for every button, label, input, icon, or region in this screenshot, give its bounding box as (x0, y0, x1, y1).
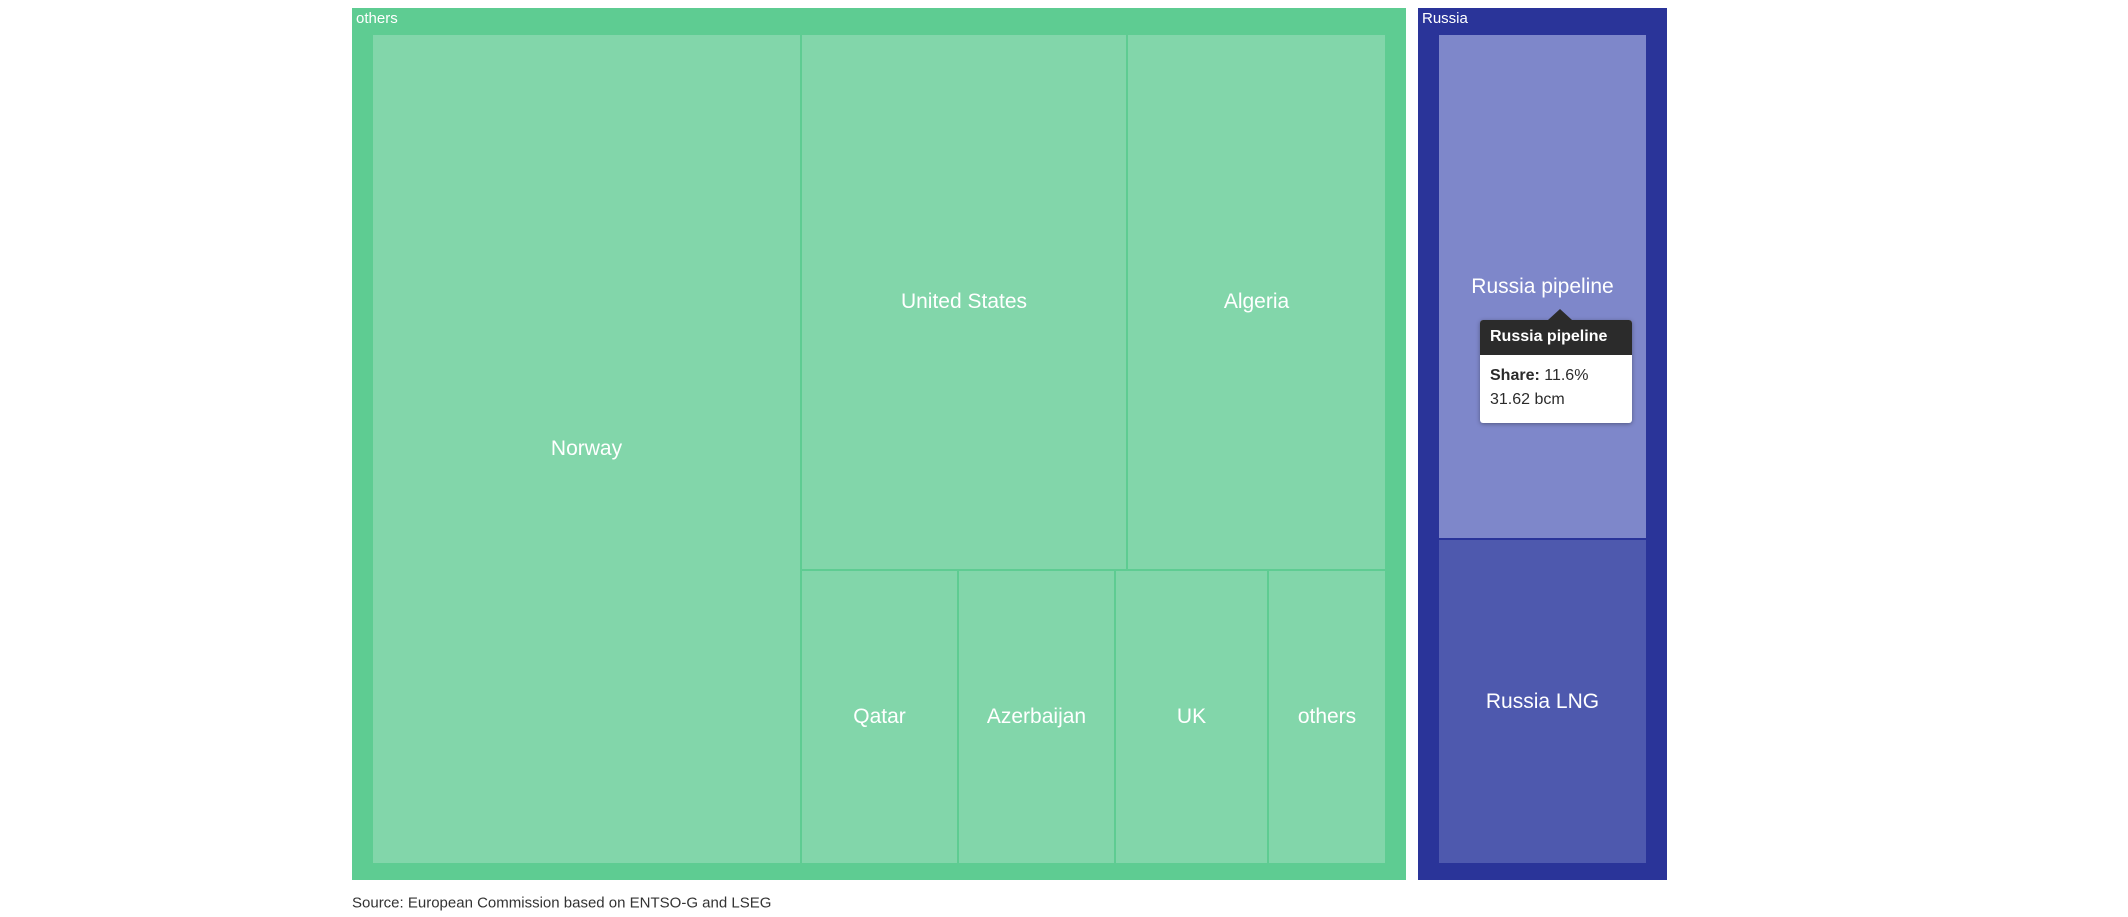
source-note: Source: European Commission based on ENT… (352, 895, 771, 912)
treemap-cell-united-states[interactable]: United States (802, 35, 1126, 569)
treemap-cell-azerbaijan-label: Azerbaijan (959, 704, 1114, 730)
treemap-cell-russia-lng[interactable]: Russia LNG (1439, 540, 1646, 863)
treemap-chart: others Norway United States Algeria Qata… (352, 8, 1682, 880)
treemap-cell-norway[interactable]: Norway (373, 35, 800, 863)
treemap-cell-uk-label: UK (1116, 704, 1267, 730)
treemap-page: others Norway United States Algeria Qata… (0, 0, 2128, 917)
treemap-cell-norway-label: Norway (373, 436, 800, 462)
group-header-russia: Russia (1418, 8, 1468, 29)
tooltip-arrow-icon (1548, 309, 1572, 320)
treemap-cell-uk[interactable]: UK (1116, 571, 1267, 863)
group-header-others: others (352, 8, 398, 29)
treemap-cell-others-label: others (1269, 704, 1385, 730)
tooltip-share-row: Share: 11.6% (1490, 364, 1622, 388)
tooltip-title: Russia pipeline (1480, 320, 1632, 355)
tooltip: Russia pipeline Share: 11.6% 31.62 bcm (1480, 320, 1632, 423)
treemap-cell-qatar-label: Qatar (802, 704, 957, 730)
treemap-cell-algeria-label: Algeria (1128, 289, 1385, 315)
treemap-cell-others[interactable]: others (1269, 571, 1385, 863)
treemap-cell-united-states-label: United States (802, 289, 1126, 315)
tooltip-volume-value: 31.62 bcm (1490, 388, 1622, 412)
treemap-group-russia[interactable]: Russia Russia pipeline Russia LNG (1418, 8, 1667, 880)
treemap-cell-russia-lng-label: Russia LNG (1439, 689, 1646, 715)
treemap-cell-russia-pipeline-label: Russia pipeline (1439, 274, 1646, 300)
treemap-cell-qatar[interactable]: Qatar (802, 571, 957, 863)
tooltip-body: Share: 11.6% 31.62 bcm (1480, 355, 1632, 423)
tooltip-share-label: Share: (1490, 367, 1540, 384)
tooltip-share-value: 11.6% (1544, 367, 1588, 384)
treemap-group-others[interactable]: others Norway United States Algeria Qata… (352, 8, 1406, 880)
treemap-cell-russia-pipeline[interactable]: Russia pipeline (1439, 35, 1646, 538)
treemap-cell-algeria[interactable]: Algeria (1128, 35, 1385, 569)
treemap-cell-azerbaijan[interactable]: Azerbaijan (959, 571, 1114, 863)
